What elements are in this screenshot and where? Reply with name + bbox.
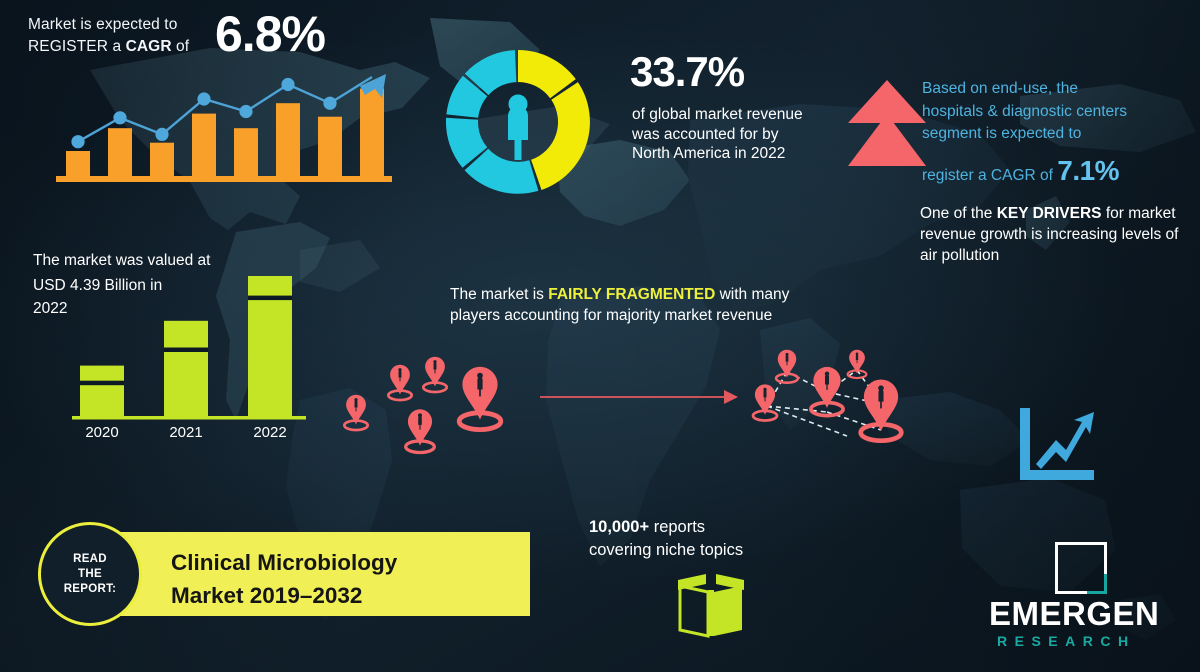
donut-description: of global market revenue was accounted f…	[632, 105, 817, 164]
infographic-canvas: Market is expected to REGISTER a CAGR of…	[0, 0, 1200, 672]
key-driver-statement: One of the KEY DRIVERS for market revenu…	[920, 203, 1196, 266]
double-up-arrow-icon	[846, 76, 928, 168]
reports-label: reports	[649, 518, 705, 536]
growth-arrow-chart-icon	[1016, 406, 1098, 484]
square-outline-icon	[1055, 542, 1107, 594]
fragmentation-pre: The market is	[450, 286, 548, 303]
cagr-headline-line2-post: of	[172, 38, 190, 55]
axis-label-2020: 2020	[85, 424, 118, 441]
map-pin-small-2	[388, 365, 411, 400]
fragmentation-statement: The market is FAIRLY FRAGMENTED with man…	[450, 284, 810, 326]
fragmented-players-pin-cluster	[330, 348, 540, 458]
report-title-line2: Market 2019–2032	[171, 579, 397, 612]
map-pin-small-3	[423, 357, 446, 392]
map-pin-large-1	[459, 367, 501, 430]
axis-label-2022: 2022	[253, 424, 286, 441]
map-pin-node-3	[753, 384, 777, 420]
open-book-icon	[672, 568, 750, 640]
person-icon	[508, 95, 528, 161]
badge-line3: REPORT:	[64, 583, 117, 595]
end-use-cagr-value: 7.1%	[1057, 155, 1119, 186]
cagr-value: 6.8%	[215, 7, 325, 61]
key-driver-pre: One of the	[920, 205, 997, 222]
read-the-report-badge[interactable]: READ THE REPORT:	[38, 522, 142, 626]
map-pin-node-5	[861, 379, 902, 440]
transition-right-arrow-icon	[540, 386, 740, 408]
reports-line2: covering niche topics	[589, 539, 829, 562]
cagr-headline-line1: Market is expected to	[28, 16, 177, 33]
cagr-headline-bold: CAGR	[126, 38, 172, 55]
reports-count: 10,000+	[589, 518, 649, 536]
key-driver-bold: KEY DRIVERS	[997, 205, 1102, 222]
market-value-bars	[80, 276, 292, 416]
cagr-headline-line2-pre: REGISTER a	[28, 38, 126, 55]
reports-count-statement: 10,000+ reports covering niche topics	[589, 516, 829, 562]
end-use-line4: register a CAGR of	[922, 167, 1053, 184]
logo-wordmark: EMERGEN	[989, 596, 1159, 632]
market-value-axis-labels: 2020 2021 2022	[85, 424, 286, 441]
end-use-line2: hospitals & diagnostic centers	[922, 101, 1190, 124]
consolidated-network-pin-cluster	[735, 344, 925, 464]
axis-label-2021: 2021	[169, 424, 202, 441]
market-value-axis	[72, 416, 306, 420]
cagr-headline: Market is expected to REGISTER a CAGR of	[28, 14, 238, 58]
report-title-bar[interactable]: Clinical Microbiology Market 2019–2032	[115, 532, 530, 616]
badge-line1: READ	[73, 553, 107, 565]
map-pin-node-1	[776, 350, 798, 383]
map-pin-node-2	[848, 350, 867, 378]
end-use-statement: Based on end-use, the hospitals & diagno…	[922, 78, 1190, 187]
map-pin-medium-1	[406, 409, 435, 452]
trend-bar-chart	[56, 72, 392, 200]
map-pin-small-1	[344, 395, 367, 430]
map-pin-node-4	[811, 367, 843, 416]
donut-segment-north-america-2	[531, 82, 590, 190]
bar-2020	[80, 366, 124, 416]
north-america-donut	[442, 46, 594, 198]
fragmentation-highlight: FAIRLY FRAGMENTED	[548, 286, 715, 303]
market-value-bar-chart: 2020 2021 2022	[66, 268, 316, 443]
bar-2022	[248, 276, 292, 416]
trend-chart-baseline	[56, 176, 392, 182]
badge-line2: THE	[78, 568, 102, 580]
end-use-line1: Based on end-use, the	[922, 78, 1190, 101]
logo-subtitle: RESEARCH	[997, 633, 1136, 649]
end-use-line3: segment is expected to	[922, 123, 1190, 146]
bar-2021	[164, 321, 208, 416]
donut-value: 33.7%	[630, 50, 744, 94]
report-title-line1: Clinical Microbiology	[171, 546, 397, 579]
